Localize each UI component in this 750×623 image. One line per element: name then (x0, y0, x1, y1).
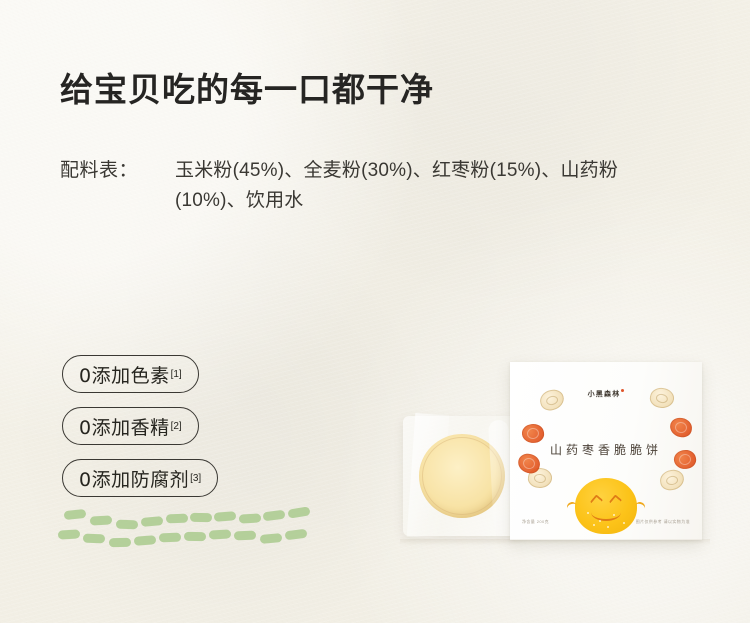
ingredients-block: 配料表： 玉米粉(45%)、全麦粉(30%)、红枣粉(15%)、山药粉(10%)… (60, 156, 675, 216)
product-detail-page: 给宝贝吃的每一口都干净 配料表： 玉米粉(45%)、全麦粉(30%)、红枣粉(1… (0, 0, 750, 623)
ingredients-label: 配料表： (60, 156, 175, 186)
claim-badge-footnote: [1] (171, 369, 182, 380)
disclaimer-text: 图片仅供参考 请以实物为准 (636, 519, 690, 526)
claim-badge-row: 0添加色素 [1] (62, 355, 218, 407)
claim-badge-footnote: [2] (171, 421, 182, 432)
smiling-cracker-mascot (575, 478, 637, 534)
brand-logo-text: 小黑森林 (588, 390, 621, 398)
claim-badge-label: 0添加香精 (79, 413, 170, 440)
ingredients-text: 玉米粉(45%)、全麦粉(30%)、红枣粉(15%)、山药粉(10%)、饮用水 (175, 156, 675, 216)
claim-badge-label: 0添加防腐剂 (79, 465, 189, 492)
claim-badge-no-flavoring: 0添加香精 [2] (62, 407, 199, 445)
red-date-illustration (669, 416, 694, 439)
page-title: 给宝贝吃的每一口都干净 (60, 70, 434, 110)
product-box-image: 小黑森林 山药枣香脆脆饼 (510, 362, 702, 540)
wrapped-cracker-image (403, 416, 521, 536)
product-photo: 小黑森林 山药枣香脆脆饼 (400, 358, 710, 543)
claim-badge-footnote: [3] (190, 473, 201, 484)
net-weight-text: 净含量 200克 (522, 519, 549, 526)
claim-badge-no-coloring: 0添加色素 [1] (62, 355, 199, 393)
table-surface-shadow (400, 539, 710, 545)
claim-badge-row: 0添加香精 [2] (62, 407, 218, 459)
claim-badge-row: 0添加防腐剂 [3] (62, 459, 218, 511)
leaf-decoration (64, 508, 319, 552)
product-name-text: 山药枣香脆脆饼 (510, 441, 702, 458)
brand-logo-dot (621, 389, 624, 392)
mascot-mouth (591, 504, 621, 521)
claim-badge-list: 0添加色素 [1] 0添加香精 [2] 0添加防腐剂 [3] (62, 355, 218, 511)
mascot-arm-right (634, 501, 647, 514)
mascot-arm-left (566, 501, 579, 514)
claim-badge-no-preservative: 0添加防腐剂 [3] (62, 459, 218, 497)
claim-badge-label: 0添加色素 (79, 361, 170, 388)
yam-slice-illustration (658, 468, 685, 492)
